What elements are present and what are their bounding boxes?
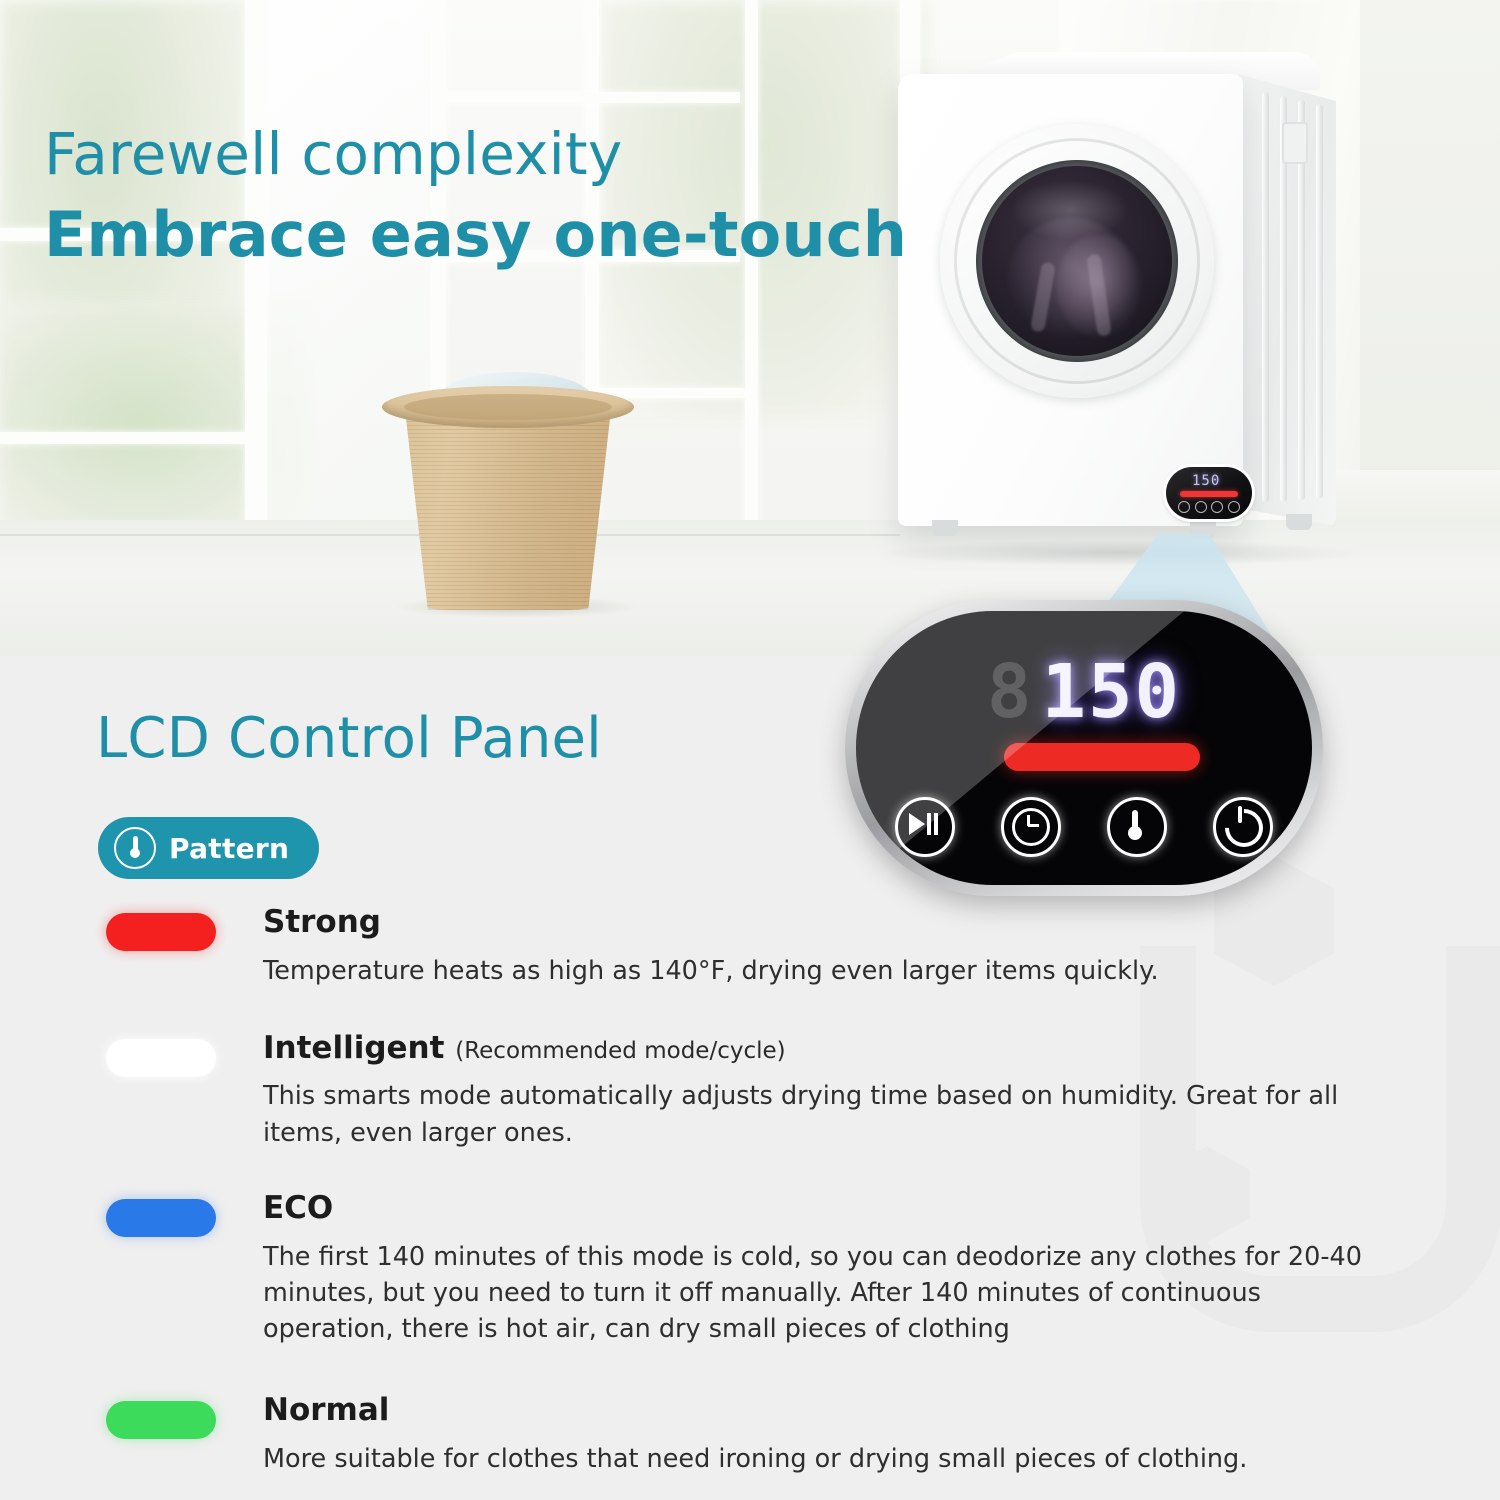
mode-item-normal: Normal More suitable for clothes that ne… — [98, 1393, 1418, 1477]
mode-name: ECO — [263, 1190, 333, 1226]
mode-name: Normal — [263, 1392, 389, 1428]
mode-progress-bar — [1004, 743, 1200, 771]
basket-opening — [404, 394, 612, 420]
power-icon[interactable] — [1228, 501, 1240, 513]
lcd-control-panel[interactable]: 8 150 — [845, 600, 1323, 896]
appliance-button-row — [1178, 501, 1240, 513]
panel-face: 8 150 — [856, 611, 1312, 885]
mode-description: More suitable for clothes that need iron… — [263, 1441, 1418, 1477]
product-infographic: 150 Farewell complexity Embrace easy one… — [0, 0, 1500, 1500]
temperature-icon[interactable] — [1107, 797, 1167, 857]
mode-description: The first 140 minutes of this mode is co… — [263, 1239, 1393, 1348]
mode-color-swatch — [106, 1401, 216, 1439]
window-mullion — [440, 92, 740, 103]
dryer-door-glass — [982, 166, 1172, 356]
page-title: LCD Control Panel — [96, 706, 602, 771]
mode-list: Strong Temperature heats as high as 140°… — [98, 905, 1418, 1500]
mode-item-intelligent: Intelligent (Recommended mode/cycle) Thi… — [98, 1031, 1418, 1151]
mode-description: This smarts mode automatically adjusts d… — [263, 1078, 1388, 1150]
window-mullion — [245, 0, 267, 560]
basket-body — [390, 402, 626, 610]
power-icon[interactable] — [1213, 797, 1273, 857]
timer-icon[interactable] — [1195, 501, 1207, 513]
laundry-basket — [382, 372, 634, 612]
side-latch — [1282, 122, 1308, 164]
appliance-progress-bar — [1180, 491, 1238, 497]
mode-item-eco: ECO The first 140 minutes of this mode i… — [98, 1191, 1418, 1347]
pattern-badge: Pattern — [98, 817, 319, 879]
thermometer-icon — [114, 827, 156, 869]
hero-photo: 150 Farewell complexity Embrace easy one… — [0, 0, 1500, 656]
mode-note: (Recommended mode/cycle) — [455, 1038, 785, 1064]
headline-line-2: Embrace easy one-touch — [44, 198, 907, 271]
side-rib — [1316, 104, 1323, 498]
dryer-appliance — [890, 52, 1360, 552]
temperature-icon[interactable] — [1211, 501, 1223, 513]
pattern-badge-label: Pattern — [169, 832, 289, 865]
appliance-control-panel[interactable]: 150 — [1166, 467, 1252, 519]
mode-name: Strong — [263, 904, 381, 940]
window-mullion — [0, 432, 250, 444]
appliance-display-value: 150 — [1192, 473, 1238, 489]
mode-color-swatch — [106, 1199, 216, 1237]
mode-color-swatch — [106, 1039, 216, 1077]
mode-name: Intelligent — [263, 1030, 444, 1066]
mode-item-strong: Strong Temperature heats as high as 140°… — [98, 905, 1418, 989]
mode-color-swatch — [106, 913, 216, 951]
timer-icon[interactable] — [1001, 797, 1061, 857]
play-pause-icon[interactable] — [1178, 501, 1190, 513]
glass-reflection — [1010, 180, 1130, 240]
side-rib — [1262, 92, 1269, 502]
dryer-foot — [1286, 514, 1312, 530]
dryer-foot — [932, 520, 958, 536]
headline-line-1: Farewell complexity — [44, 120, 622, 188]
mode-description: Temperature heats as high as 140°F, dryi… — [263, 953, 1418, 989]
